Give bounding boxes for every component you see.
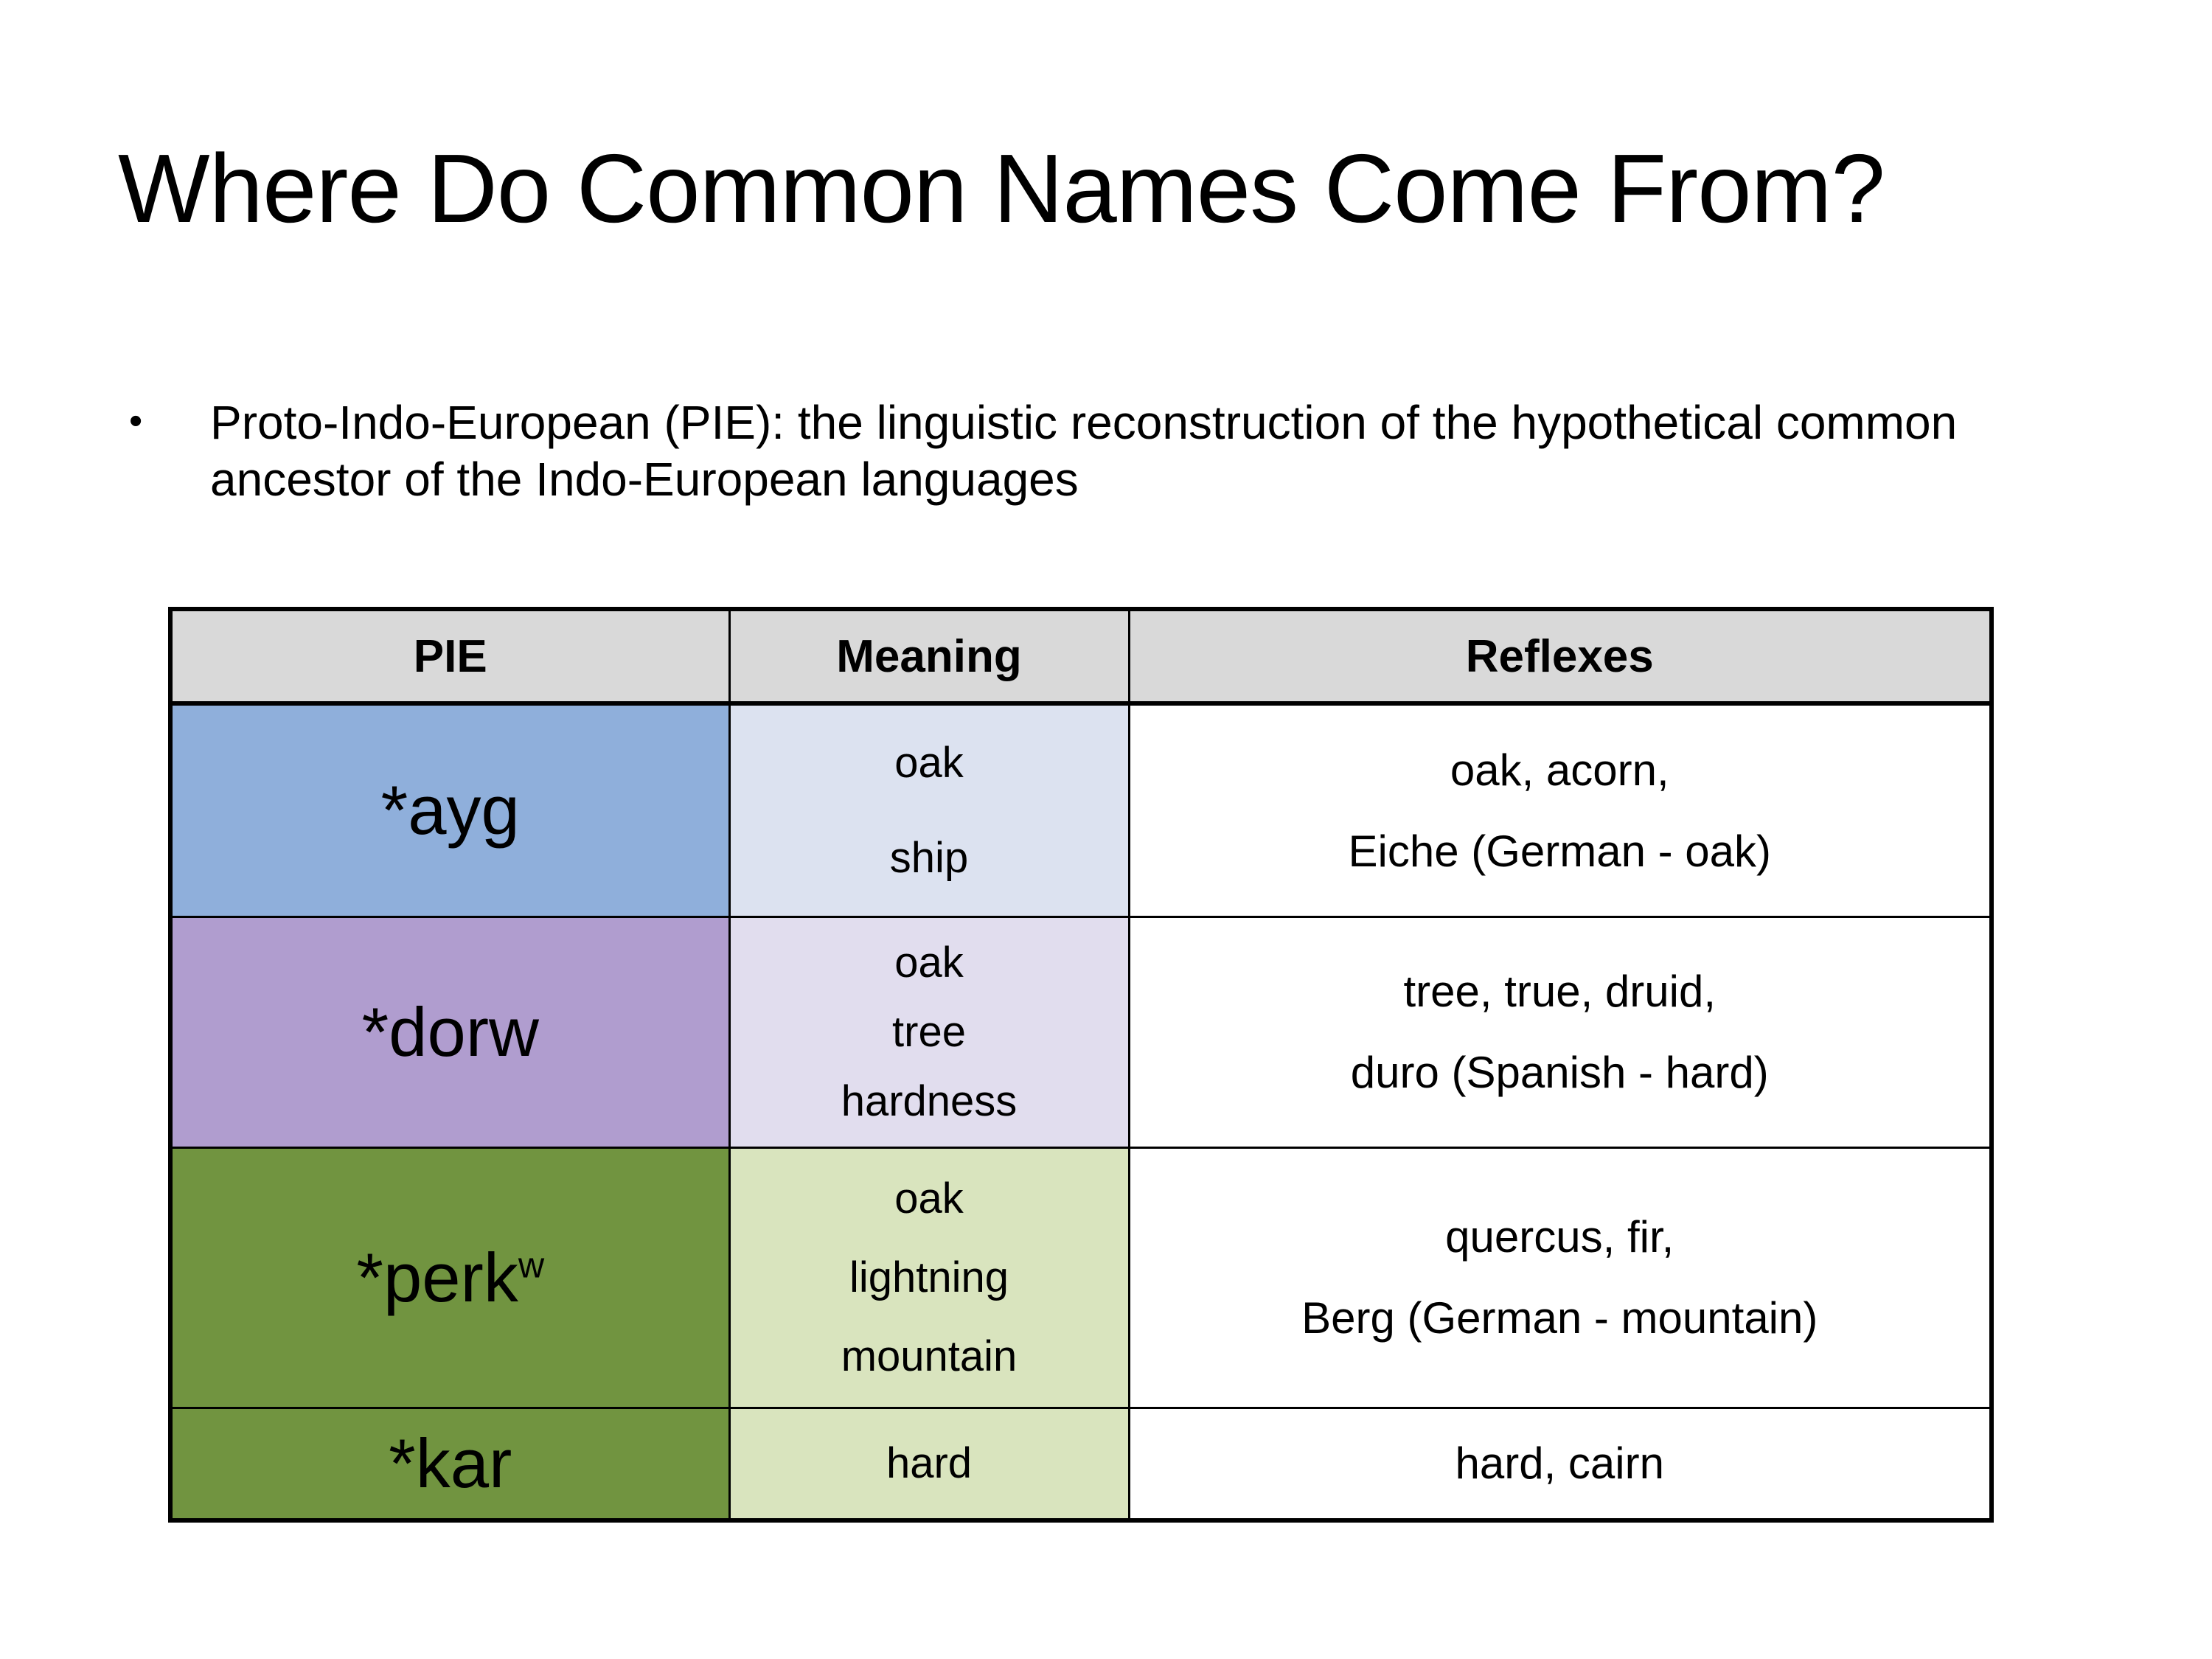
- table-row: *perkw oak lightning mountain quercus, f…: [170, 1148, 1992, 1408]
- column-header-meaning: Meaning: [729, 609, 1129, 703]
- pie-root: *ayg: [381, 771, 520, 849]
- cell-reflexes: oak, acorn, Eiche (German - oak): [1129, 703, 1992, 917]
- cell-pie: *ayg: [170, 703, 729, 917]
- meaning-line: mountain: [841, 1333, 1018, 1380]
- column-header-reflexes: Reflexes: [1129, 609, 1992, 703]
- column-header-pie: PIE: [170, 609, 729, 703]
- reflex-line: tree, true, druid,: [1403, 967, 1716, 1016]
- cell-pie: *perkw: [170, 1148, 729, 1408]
- pie-root: *perk: [356, 1239, 518, 1316]
- meaning-line: tree: [892, 1009, 966, 1056]
- meaning-line: lightning: [849, 1254, 1009, 1301]
- reflex-line: hard, cairn: [1455, 1439, 1664, 1488]
- meaning-line: hard: [886, 1440, 972, 1487]
- meaning-line: oak: [894, 939, 964, 987]
- reflex-line: quercus, fir,: [1445, 1213, 1674, 1262]
- reflex-line: duro (Spanish - hard): [1351, 1048, 1769, 1097]
- meaning-line: hardness: [841, 1078, 1018, 1125]
- cell-meaning: hard: [729, 1408, 1129, 1521]
- meaning-line: ship: [890, 835, 968, 882]
- reflex-line: oak, acorn,: [1450, 746, 1669, 795]
- cell-meaning: oak ship: [729, 703, 1129, 917]
- bullet-text: Proto-Indo-European (PIE): the linguisti…: [210, 394, 2061, 508]
- list-item: • Proto-Indo-European (PIE): the linguis…: [129, 394, 2061, 508]
- bullet-list: • Proto-Indo-European (PIE): the linguis…: [129, 394, 2061, 508]
- meaning-line: oak: [894, 1175, 964, 1222]
- pie-root-superscript: w: [518, 1245, 544, 1285]
- table-row: *kar hard hard, cairn: [170, 1408, 1992, 1521]
- table-row: *dorw oak tree hardness tree, true, drui…: [170, 917, 1992, 1148]
- pie-root: *dorw: [362, 993, 539, 1071]
- cell-reflexes: hard, cairn: [1129, 1408, 1992, 1521]
- page-title: Where Do Common Names Come From?: [118, 136, 2138, 242]
- reflex-line: Berg (German - mountain): [1301, 1294, 1818, 1343]
- cell-meaning: oak lightning mountain: [729, 1148, 1129, 1408]
- table-header-row: PIE Meaning Reflexes: [170, 609, 1992, 703]
- table-row: *ayg oak ship oak, acorn, Eiche (German …: [170, 703, 1992, 917]
- pie-root: *kar: [389, 1425, 512, 1502]
- cell-reflexes: tree, true, druid, duro (Spanish - hard): [1129, 917, 1992, 1148]
- bullet-point-icon: •: [129, 394, 210, 449]
- reflex-line: Eiche (German - oak): [1348, 827, 1771, 876]
- cell-reflexes: quercus, fir, Berg (German - mountain): [1129, 1148, 1992, 1408]
- meaning-line: oak: [894, 740, 964, 787]
- cell-meaning: oak tree hardness: [729, 917, 1129, 1148]
- slide-canvas: Where Do Common Names Come From? • Proto…: [0, 0, 2212, 1659]
- cell-pie: *dorw: [170, 917, 729, 1148]
- pie-reflexes-table: PIE Meaning Reflexes *ayg oak ship: [168, 607, 1994, 1523]
- cell-pie: *kar: [170, 1408, 729, 1521]
